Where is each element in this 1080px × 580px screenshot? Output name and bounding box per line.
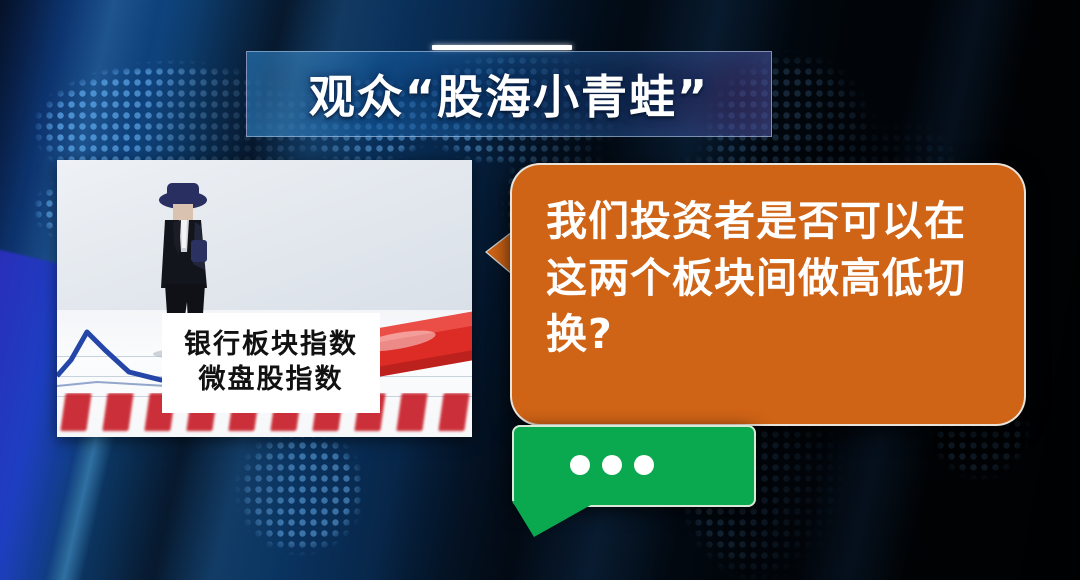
- news-photo: 银行板块指数 微盘股指数: [57, 160, 472, 437]
- broadcast-graphic-stage: 观众“股海小青蛙”: [0, 0, 1080, 580]
- question-bubble-text: 我们投资者是否可以在这两个板块间做高低切换?: [546, 193, 998, 363]
- page-title: 观众“股海小青蛙”: [247, 52, 771, 136]
- typing-indicator-dots: [570, 455, 654, 475]
- typing-dot: [634, 455, 654, 475]
- typing-dot: [602, 455, 622, 475]
- photo-caption-box: 银行板块指数 微盘股指数: [162, 313, 380, 413]
- typing-bubble: [512, 425, 756, 507]
- typing-bubble-tail: [512, 501, 598, 537]
- typing-dot: [570, 455, 590, 475]
- caption-line-2: 微盘股指数: [199, 364, 344, 397]
- caption-line-1: 银行板块指数: [184, 329, 358, 362]
- title-banner: 观众“股海小青蛙”: [246, 51, 772, 137]
- title-accent-line: [432, 45, 572, 50]
- question-bubble: 我们投资者是否可以在这两个板块间做高低切换?: [510, 163, 1026, 426]
